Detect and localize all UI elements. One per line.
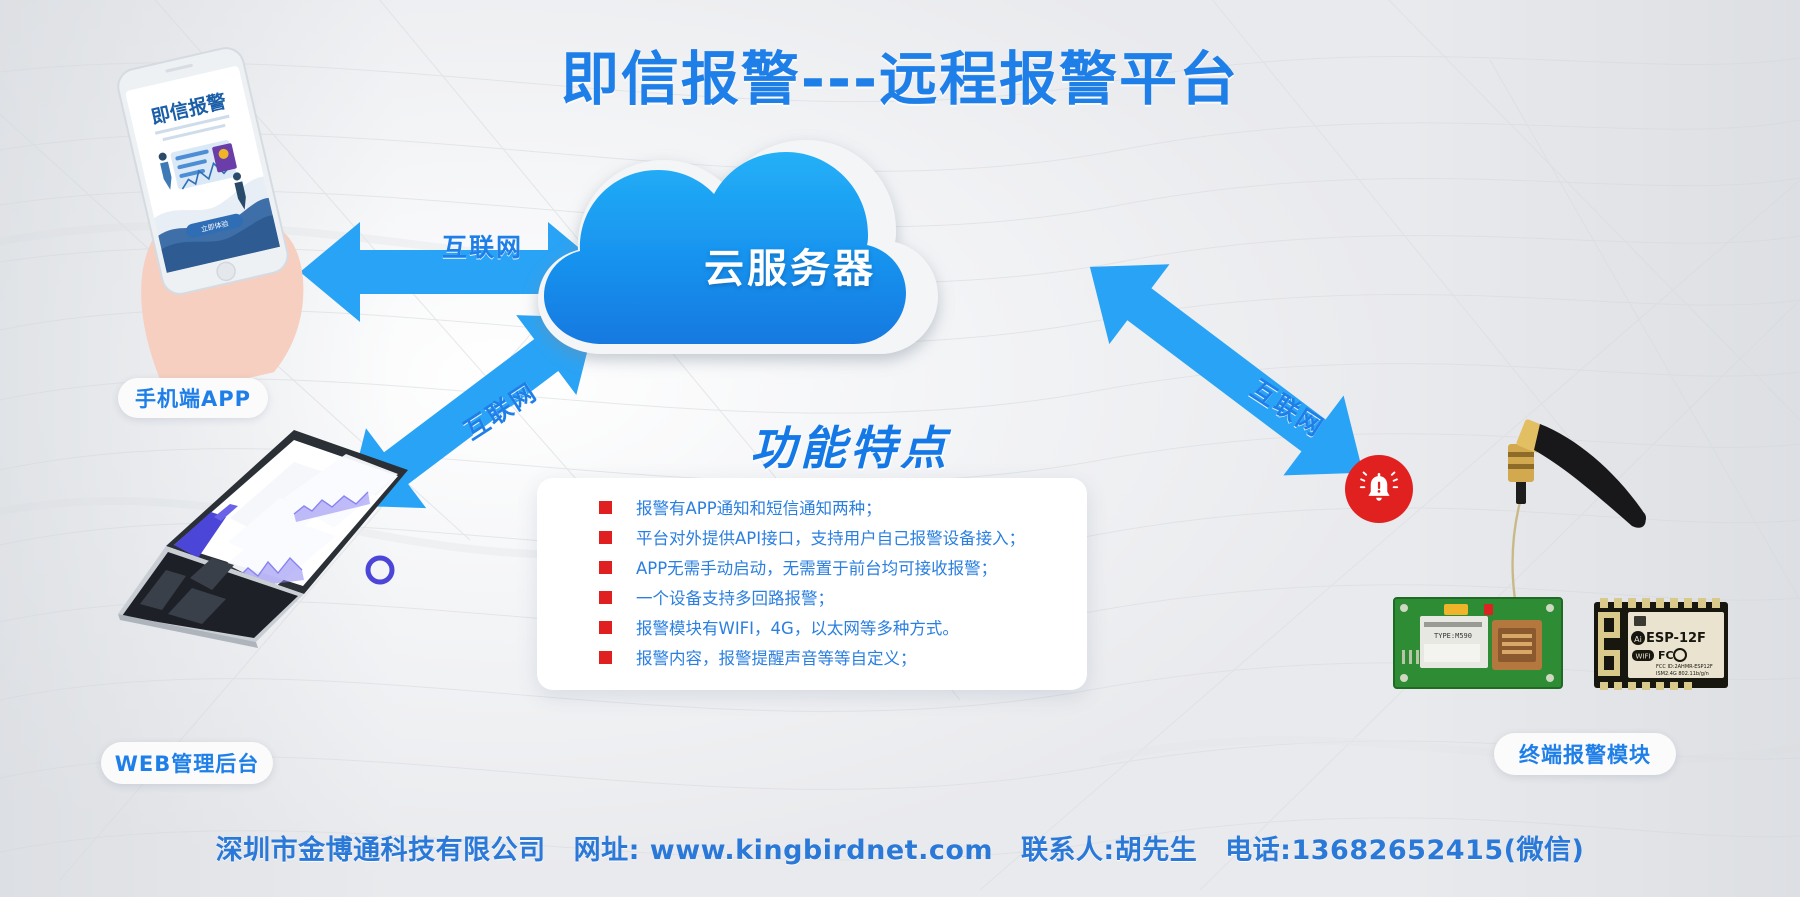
- feature-text: APP无需手动启动，无需置于前台均可接收报警；: [636, 555, 997, 579]
- diagram-canvas: 即信报警---远程报警平台 云服务器 即信报警: [0, 0, 1800, 897]
- list-item: 报警模块有WIFI，4G，以太网等多种方式。: [599, 612, 1087, 642]
- footer-company: 深圳市金博通科技有限公司: [216, 835, 546, 866]
- svg-text:ESP-12F: ESP-12F: [1646, 631, 1706, 646]
- list-item: APP无需手动启动，无需置于前台均可接收报警；: [599, 552, 1087, 582]
- feature-text: 报警内容，报警提醒声音等等自定义；: [636, 645, 917, 669]
- footer-website[interactable]: 网址: www.kingbirdnet.com: [574, 835, 993, 866]
- footer-contact-person: 联系人:胡先生: [1021, 835, 1197, 866]
- feature-text: 一个设备支持多回路报警；: [636, 585, 834, 609]
- feature-text: 报警模块有WIFI，4G，以太网等多种方式。: [636, 615, 959, 639]
- node-label-terminal-module[interactable]: 终端报警模块: [1494, 733, 1676, 775]
- node-label-phone-app[interactable]: 手机端APP: [118, 378, 268, 418]
- alarm-module-icon: TYPE:M590: [1380, 360, 1740, 690]
- svg-text:FCC ID:2AHMR-ESP12F: FCC ID:2AHMR-ESP12F: [1656, 664, 1713, 670]
- bullet-square-icon: [599, 591, 612, 604]
- svg-text:ISM2.4G 802.11b/g/n: ISM2.4G 802.11b/g/n: [1656, 671, 1709, 677]
- features-list: 报警有APP通知和短信通知两种； 平台对外提供API接口，支持用户自己报警设备接…: [537, 492, 1087, 672]
- footer-phone: 电话:13682652415(微信): [1225, 835, 1584, 866]
- bullet-square-icon: [599, 651, 612, 664]
- features-card: 报警有APP通知和短信通知两种； 平台对外提供API接口，支持用户自己报警设备接…: [537, 478, 1087, 690]
- node-label-web-admin[interactable]: WEB管理后台: [101, 742, 273, 784]
- list-item: 报警内容，报警提醒声音等等自定义；: [599, 642, 1087, 672]
- svg-text:WIFI: WIFI: [1635, 653, 1650, 661]
- laptop-dashboard-icon: [108, 418, 423, 648]
- cloud-node[interactable]: 云服务器: [600, 140, 980, 370]
- arrow-cloud-module: [1060, 227, 1393, 513]
- footer-contact-bar: 深圳市金博通科技有限公司 网址: www.kingbirdnet.com 联系人…: [0, 828, 1800, 867]
- smartphone-in-hand-icon: 即信报警 立即体验: [95, 35, 345, 380]
- bullet-square-icon: [599, 561, 612, 574]
- svg-text:Ai: Ai: [1634, 635, 1642, 644]
- feature-text: 平台对外提供API接口，支持用户自己报警设备接入；: [636, 525, 1025, 549]
- svg-text:FC: FC: [1658, 649, 1674, 662]
- list-item: 一个设备支持多回路报警；: [599, 582, 1087, 612]
- feature-text: 报警有APP通知和短信通知两种；: [636, 495, 882, 519]
- cloud-label: 云服务器: [600, 236, 980, 294]
- bullet-square-icon: [599, 531, 612, 544]
- list-item: 报警有APP通知和短信通知两种；: [599, 492, 1087, 522]
- link-label-phone-cloud: 互联网: [442, 228, 523, 264]
- bullet-square-icon: [599, 501, 612, 514]
- features-heading: 功能特点: [660, 412, 1040, 478]
- svg-text:TYPE:M590: TYPE:M590: [1434, 632, 1472, 640]
- list-item: 平台对外提供API接口，支持用户自己报警设备接入；: [599, 522, 1087, 552]
- bullet-square-icon: [599, 621, 612, 634]
